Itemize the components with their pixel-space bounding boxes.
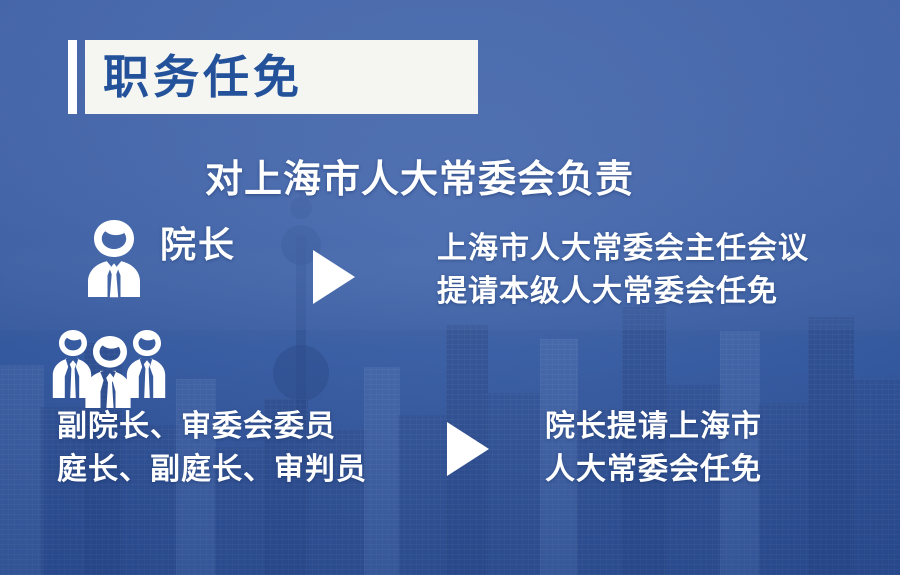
play-triangle-icon xyxy=(313,250,355,304)
row-2-result-line-2: 人大常委会任免 xyxy=(545,449,762,492)
subtitle-text: 对上海市人大常委会负责 xyxy=(205,148,634,203)
row-1-result: 上海市人大常委会主任会议 提请本级人大常委会任免 xyxy=(437,228,809,313)
poster-content: 职务任免 对上海市人大常委会负责 院长 上海市人大常委会主任会议 xyxy=(0,0,900,575)
title-accent-bar xyxy=(68,40,77,114)
row-2-label-line-1: 副院长、审委会委员 xyxy=(57,406,367,449)
row-2-result: 院长提请上海市 人大常委会任免 xyxy=(545,406,762,491)
row-1-result-line-2: 提请本级人大常委会任免 xyxy=(437,271,809,314)
three-people-icon xyxy=(40,326,180,408)
infographic-poster: 职务任免 对上海市人大常委会负责 院长 上海市人大常委会主任会议 xyxy=(0,0,900,575)
row-1-result-line-1: 上海市人大常委会主任会议 xyxy=(437,228,809,271)
row-2-label: 副院长、审委会委员 庭长、副庭长、审判员 xyxy=(57,406,367,491)
title-text: 职务任免 xyxy=(103,54,303,100)
row-2-label-line-2: 庭长、副庭长、审判员 xyxy=(57,449,367,492)
row-1-label: 院长 xyxy=(160,216,236,268)
row-2-result-line-1: 院长提请上海市 xyxy=(545,406,762,449)
play-triangle-icon xyxy=(447,422,489,476)
page-title: 职务任免 xyxy=(68,40,478,114)
row-1: 院长 xyxy=(70,216,236,268)
title-box: 职务任免 xyxy=(85,40,478,114)
